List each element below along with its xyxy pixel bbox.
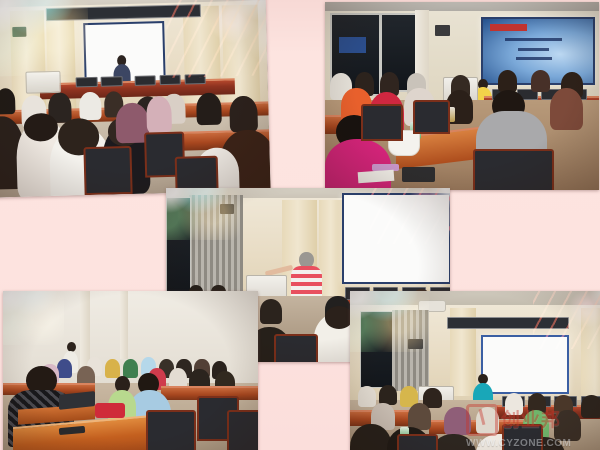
chair [361,104,403,142]
pillar [80,291,90,369]
chair [502,424,543,450]
folder [402,167,435,182]
chair [83,145,133,195]
attendee [260,299,283,323]
wall-speaker-icon [220,204,234,214]
chair [146,410,196,450]
pillar [120,291,128,359]
attendee [196,93,222,126]
chair [473,149,554,190]
instructor-striped-shirt [291,266,322,299]
wall-speaker-icon [435,25,450,36]
attendee [146,96,172,133]
attendee [105,359,120,378]
photo-collage: 创业邦 WWW.CYZONE.COM [0,0,600,450]
slide-line [518,48,549,51]
lectern [26,71,62,94]
wall-speaker-icon [12,27,26,37]
attendee [554,410,580,441]
photo-top-left-image [0,0,271,198]
chair [397,434,438,450]
attendee [476,407,500,434]
attendee [79,92,102,121]
attendee [229,96,258,133]
photo-top-right[interactable] [325,2,599,190]
attendee [498,70,517,93]
attendee [123,359,138,378]
photo-bottom-left[interactable] [3,291,258,450]
attendee [444,407,470,436]
soffit-band [447,317,570,329]
attendee [379,385,397,405]
photo-top-right-image [325,2,599,190]
red-handbag [95,403,126,418]
window-pane [339,37,366,53]
photo-bottom-right-image [350,291,600,450]
monitor [184,74,206,85]
attendee [550,88,583,129]
projection-screen [481,335,569,393]
attendee [581,395,600,419]
slide-line [516,57,552,59]
monitor [159,74,181,85]
photo-top-left[interactable] [0,0,271,198]
attendee [531,70,550,93]
monitor [76,77,98,88]
chair [413,100,450,134]
slide-line [505,38,562,41]
attendee [505,393,523,415]
window [166,197,191,300]
chair [227,410,258,450]
attendee [358,386,376,406]
chair [274,334,318,362]
photo-bottom-left-image [3,291,258,450]
projection-screen [342,193,450,284]
photo-bottom-right[interactable] [350,291,600,450]
curtain [392,310,429,392]
wall-panel [319,200,345,297]
wall-speaker-icon [408,339,424,349]
slide-title-band [490,24,527,31]
wall-panel [581,308,600,396]
monitor [134,75,156,86]
window [360,311,393,388]
monitor [101,76,123,87]
